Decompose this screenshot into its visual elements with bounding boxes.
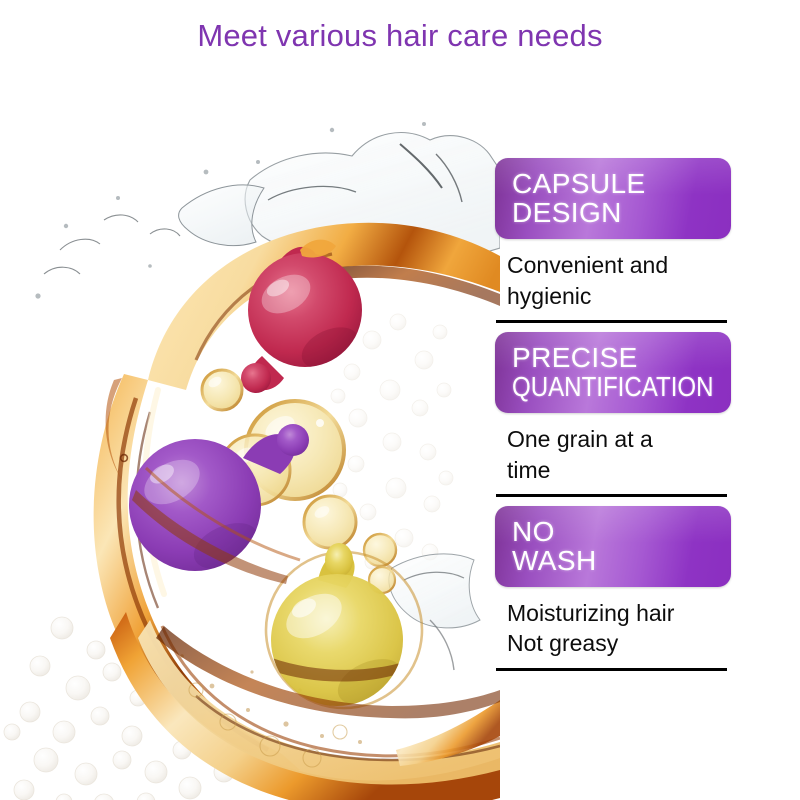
page-title: Meet various hair care needs xyxy=(0,18,800,54)
feature-divider-3 xyxy=(496,668,727,671)
feature-badge-line-1: NO xyxy=(512,517,731,546)
feature-badge-line-2: QUANTIFICATION xyxy=(512,372,700,401)
feature-divider-1 xyxy=(496,320,727,323)
feature-description-line-2: time xyxy=(507,455,733,485)
feature-description-line-2: Not greasy xyxy=(507,628,733,658)
feature-badge-line-2: WASH xyxy=(512,546,731,575)
feature-badge-no-wash[interactable]: NO WASH xyxy=(495,506,731,587)
feature-badge-line-1: PRECISE xyxy=(512,343,731,372)
feature-block-capsule-design: CAPSULE DESIGN Convenient and hygienic xyxy=(495,158,733,323)
feature-description-line-2: hygienic xyxy=(507,281,733,311)
feature-description-capsule-design: Convenient and hygienic xyxy=(495,239,733,320)
product-artwork xyxy=(0,60,500,800)
feature-block-no-wash: NO WASH Moisturizing hair Not greasy xyxy=(495,506,733,671)
feature-badge-capsule-design[interactable]: CAPSULE DESIGN xyxy=(495,158,731,239)
feature-description-precise-quantification: One grain at a time xyxy=(495,413,733,494)
feature-description-line-1: Moisturizing hair xyxy=(507,598,733,628)
product-feature-page: Meet various hair care needs xyxy=(0,0,800,800)
feature-badge-line-1: CAPSULE xyxy=(512,169,731,198)
feature-list: CAPSULE DESIGN Convenient and hygienic P… xyxy=(495,158,733,680)
water-splash-right xyxy=(389,554,480,670)
feature-divider-2 xyxy=(496,494,727,497)
feature-badge-precise-quantification[interactable]: PRECISE QUANTIFICATION xyxy=(495,332,731,413)
feature-description-no-wash: Moisturizing hair Not greasy xyxy=(495,587,733,668)
feature-badge-line-2: DESIGN xyxy=(512,198,731,227)
feature-description-line-1: One grain at a xyxy=(507,424,733,454)
feature-description-line-1: Convenient and xyxy=(507,250,733,280)
feature-block-precise-quantification: PRECISE QUANTIFICATION One grain at a ti… xyxy=(495,332,733,497)
